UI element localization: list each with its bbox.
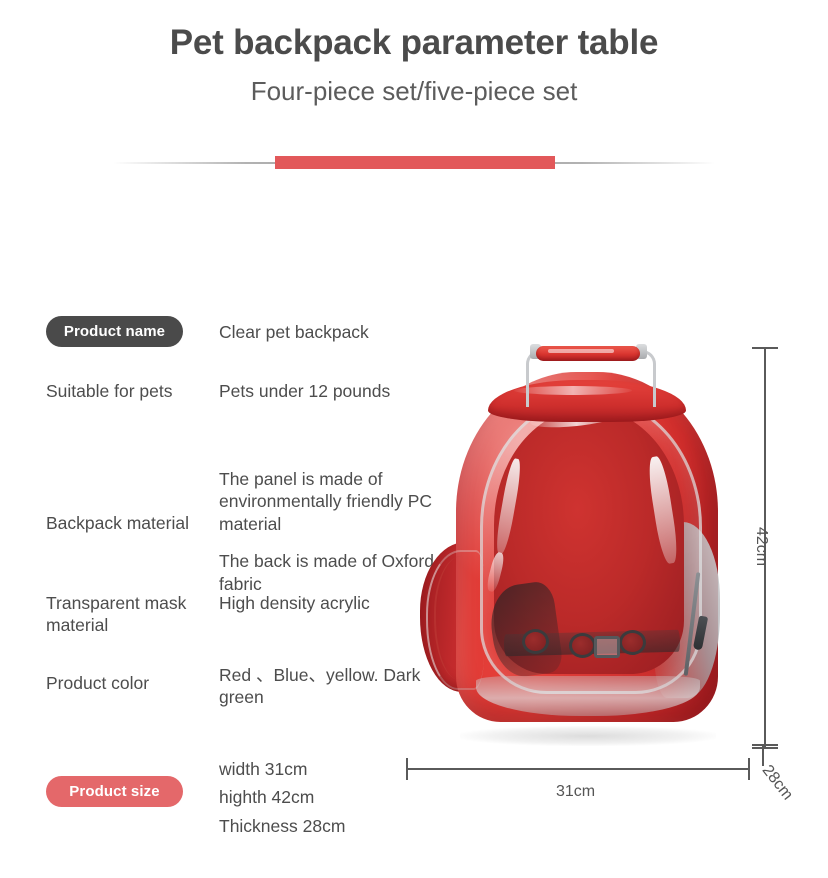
width-dimension-line [406,768,750,770]
spec-label-backpack-material: Backpack material [46,512,214,534]
backpack-vent-grommet [522,629,549,654]
page-title: Pet backpack parameter table [0,24,828,63]
width-dimension-label: 31cm [556,783,595,801]
spec-value-transparent-mask-material: High density acrylic [219,592,444,614]
spec-value-product-name: Clear pet backpack [219,321,444,343]
header-divider [113,156,715,170]
depth-dimension-label: 28cm [758,762,796,804]
backpack-vent-grommet [619,630,646,655]
depth-dimension-line [762,744,764,766]
backpack-buckle [594,636,620,658]
depth-dimension-cap [752,744,778,746]
backpack-handle-highlight [548,349,614,353]
spec-label-product-color: Product color [46,672,214,694]
height-dimension-cap-bottom [752,747,778,749]
spec-value-product-color: Red 、Blue、yellow. Dark green [219,664,444,709]
spec-label-badge-product-size: Product size [46,776,183,807]
spec-value-product-size-height: highth 42cm [219,786,447,808]
infographic-page: Pet backpack parameter table Four-piece … [0,0,828,878]
product-image [418,336,758,748]
spec-value-product-size-thickness: Thickness 28cm [219,815,447,837]
page-subtitle: Four-piece set/five-piece set [0,77,828,106]
spec-value-suitable-for-pets: Pets under 12 pounds [219,380,444,402]
spec-label-transparent-mask-material: Transparent mask material [46,592,214,637]
backpack-side-seam-inner [434,556,480,680]
divider-accent-bar [275,156,555,169]
height-dimension-label: 42cm [752,527,770,566]
header: Pet backpack parameter table Four-piece … [0,0,828,105]
spec-value-backpack-material: The panel is made of environmentally fri… [219,468,447,595]
product-shadow [460,726,716,746]
backpack-vent-grommet [569,633,596,658]
spec-label-suitable-for-pets: Suitable for pets [46,380,214,402]
width-dimension-cap-right [748,758,750,780]
spec-value-backpack-material-back: The back is made of Oxford fabric [219,550,447,595]
spec-label-badge-product-name: Product name [46,316,183,347]
spec-value-backpack-material-panel: The panel is made of environmentally fri… [219,468,447,535]
